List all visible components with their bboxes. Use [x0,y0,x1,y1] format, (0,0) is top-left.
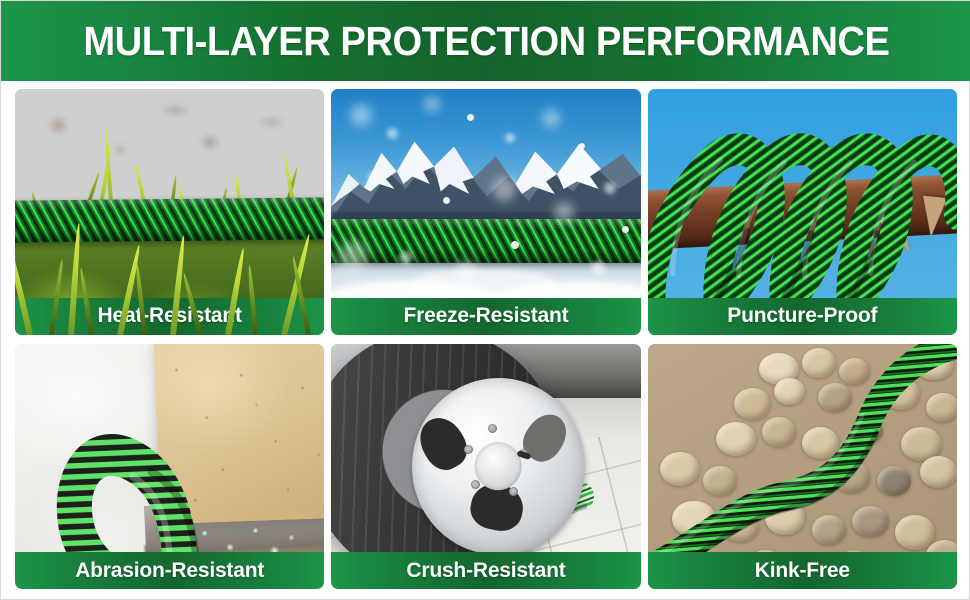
feature-label: Puncture-Proof [727,304,877,328]
header-banner: MULTI-LAYER PROTECTION PERFORMANCE [1,1,970,81]
feature-card-crush-resistant[interactable]: Crush-Resistant [331,344,640,590]
feature-caption-kink-free: Kink-Free [648,552,957,589]
feature-card-puncture-proof[interactable]: Puncture-Proof [648,89,957,335]
feature-card-kink-free[interactable]: Kink-Free [648,344,957,590]
hose-freeze-resistant [331,219,640,263]
page-title: MULTI-LAYER PROTECTION PERFORMANCE [83,21,889,62]
feature-card-freeze-resistant[interactable]: Freeze-Resistant [331,89,640,335]
feature-caption-crush-resistant: Crush-Resistant [331,552,640,589]
feature-label: Abrasion-Resistant [75,559,264,583]
feature-label: Freeze-Resistant [404,304,569,328]
feature-caption-puncture-proof: Puncture-Proof [648,298,957,335]
feature-card-heat-resistant[interactable]: Heat-Resistant [15,89,324,335]
feature-label: Kink-Free [755,559,850,583]
feature-card-abrasion-resistant[interactable]: Abrasion-Resistant [15,344,324,590]
feature-label: Crush-Resistant [406,559,565,583]
feature-grid: Heat-Resistant [15,89,957,589]
alloy-wheel [412,378,585,555]
feature-caption-freeze-resistant: Freeze-Resistant [331,298,640,335]
infographic-poster: MULTI-LAYER PROTECTION PERFORMANCE [0,0,970,600]
hose-heat-resistant [15,198,324,243]
feature-caption-abrasion-resistant: Abrasion-Resistant [15,552,324,589]
